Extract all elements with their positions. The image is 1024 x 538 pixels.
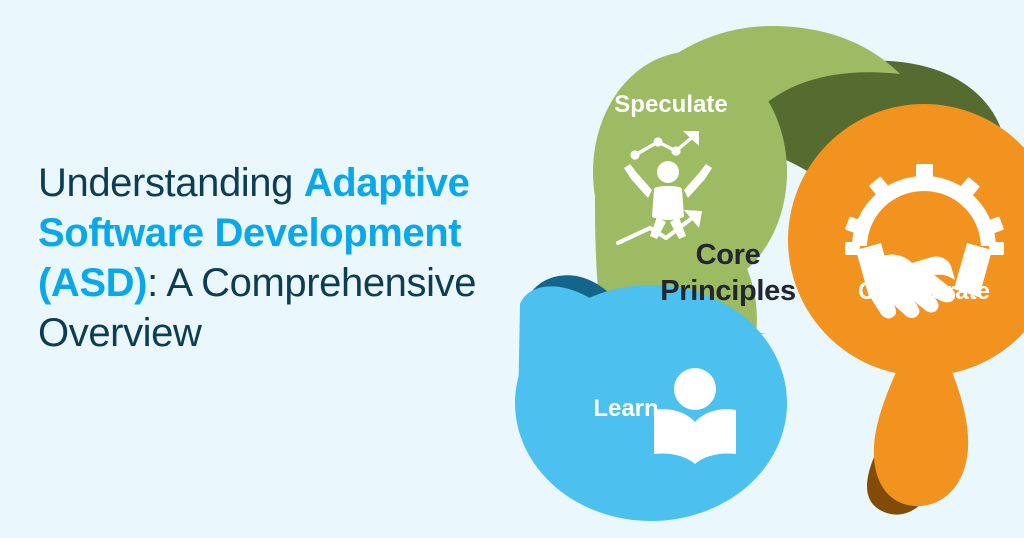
title-segment-plain-1: Understanding <box>38 161 304 205</box>
slide-canvas: Understanding Adaptive Software Developm… <box>0 0 1024 538</box>
page-title: Understanding Adaptive Software Developm… <box>38 158 516 358</box>
center-label-line1: Core <box>696 239 761 271</box>
center-label-line2: Principles <box>660 275 796 307</box>
core-principles-diagram: Speculate <box>500 12 1024 530</box>
blob-collaborate[interactable]: Collaborate <box>788 104 1024 515</box>
headline-block: Understanding Adaptive Software Developm… <box>38 158 516 358</box>
speculate-label: Speculate <box>614 91 727 118</box>
learn-label: Learn <box>593 395 658 422</box>
